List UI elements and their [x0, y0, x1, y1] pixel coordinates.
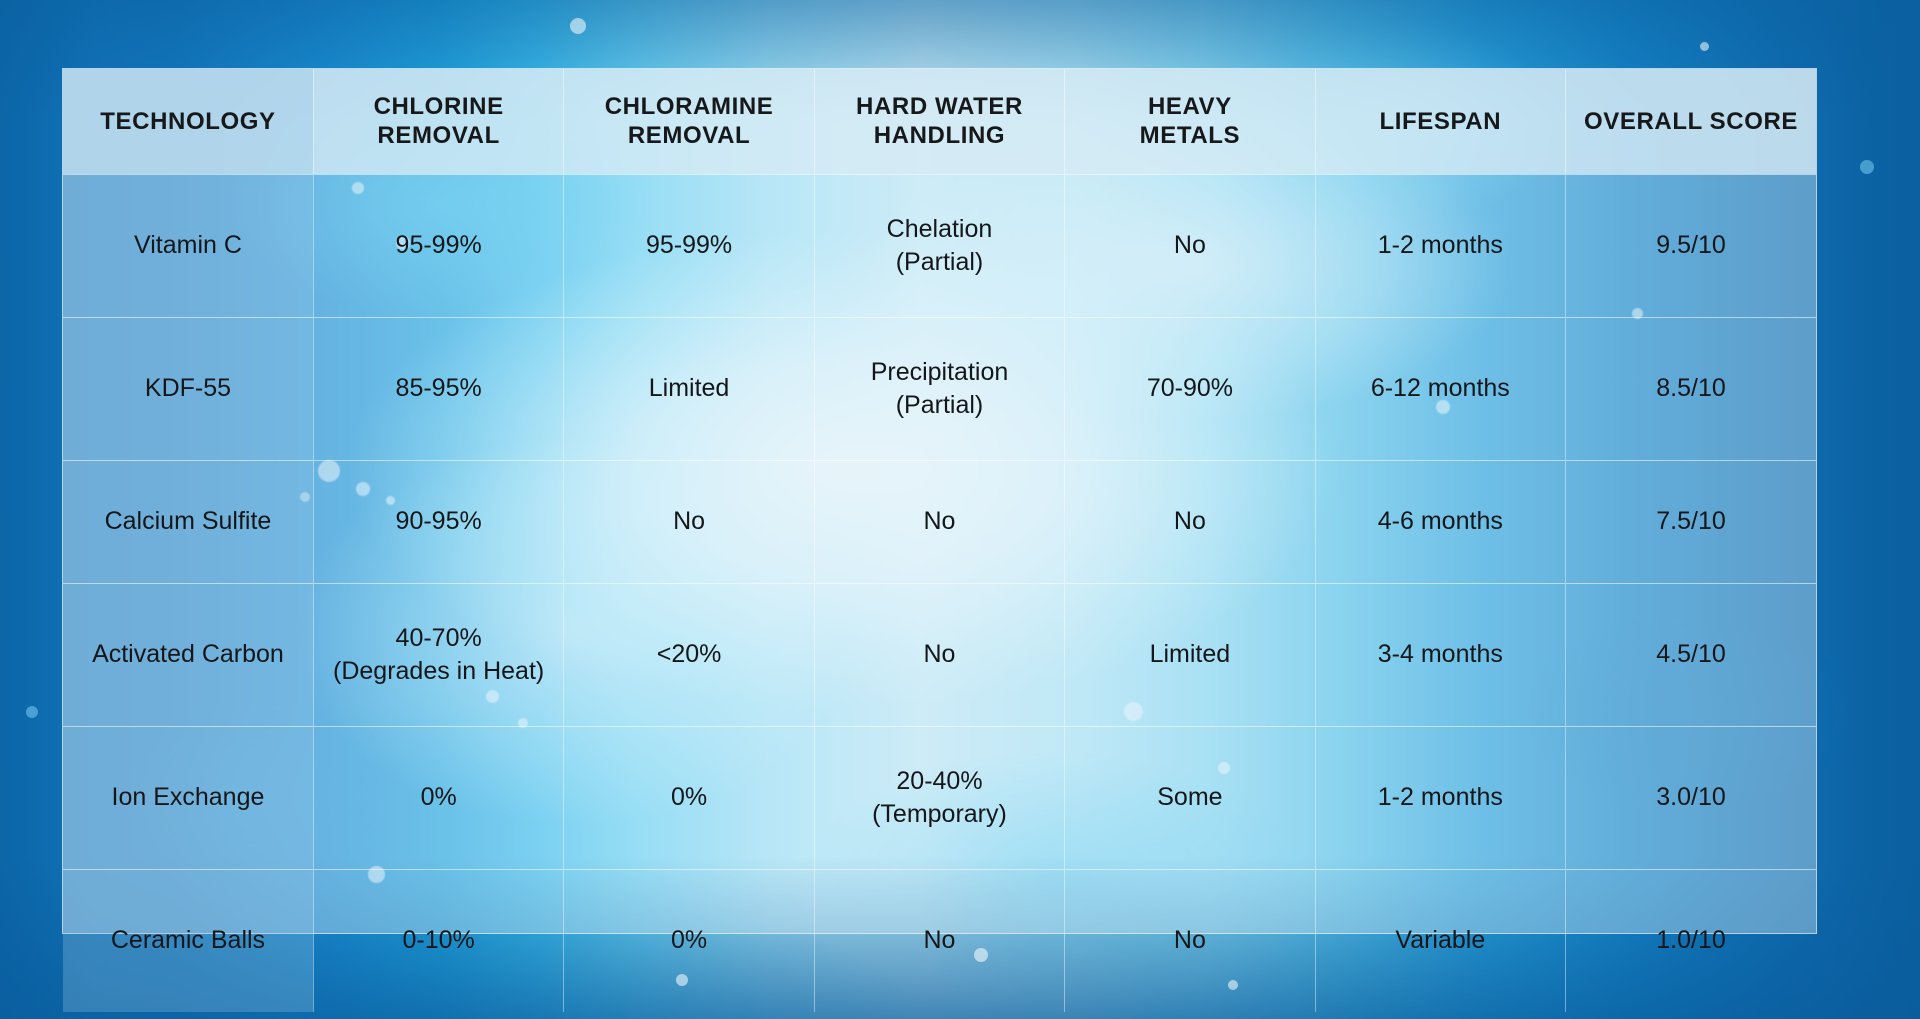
cell-technology: Calcium Sulfite: [63, 460, 313, 583]
cell-hard-water-handling: Chelation (Partial): [814, 174, 1064, 317]
cell-technology: Ceramic Balls: [63, 869, 313, 1012]
technology-comparison-table: TECHNOLOGY CHLORINE REMOVAL CHLORAMINE R…: [63, 69, 1816, 1012]
table-row: Ion Exchange 0% 0% 20-40% (Temporary) So…: [63, 726, 1816, 869]
header-line: CHLORAMINE: [605, 93, 774, 120]
column-header-overall-score: OVERALL SCORE: [1566, 69, 1816, 174]
cell-hard-water-handling: 20-40% (Temporary): [814, 726, 1064, 869]
cell-overall-score: 3.0/10: [1566, 726, 1816, 869]
header-row: TECHNOLOGY CHLORINE REMOVAL CHLORAMINE R…: [63, 69, 1816, 174]
header-line: REMOVAL: [377, 122, 499, 149]
table-row: Ceramic Balls 0-10% 0% No No Variable 1.…: [63, 869, 1816, 1012]
cell-heavy-metals: Limited: [1065, 583, 1315, 726]
table-row: Vitamin C 95-99% 95-99% Chelation (Parti…: [63, 174, 1816, 317]
header-line: METALS: [1140, 122, 1240, 149]
cell-chlorine-removal: 90-95%: [313, 460, 563, 583]
cell-chlorine-removal: 0%: [313, 726, 563, 869]
cell-overall-score: 4.5/10: [1566, 583, 1816, 726]
cell-hard-water-handling: No: [814, 869, 1064, 1012]
header-line: CHLORINE: [374, 93, 504, 120]
header-line: TECHNOLOGY: [100, 108, 275, 135]
table-row: Activated Carbon 40-70% (Degrades in Hea…: [63, 583, 1816, 726]
cell-main-text: Precipitation: [825, 356, 1054, 389]
column-header-chlorine-removal: CHLORINE REMOVAL: [313, 69, 563, 174]
cell-heavy-metals: 70-90%: [1065, 317, 1315, 460]
column-header-heavy-metals: HEAVY METALS: [1065, 69, 1315, 174]
cell-chloramine-removal: 0%: [564, 869, 814, 1012]
cell-heavy-metals: No: [1065, 460, 1315, 583]
cell-technology: KDF-55: [63, 317, 313, 460]
screenshot-stage: TECHNOLOGY CHLORINE REMOVAL CHLORAMINE R…: [0, 0, 1920, 1019]
cell-chloramine-removal: 95-99%: [564, 174, 814, 317]
cell-sub-text: (Partial): [825, 389, 1054, 422]
header-line: REMOVAL: [628, 122, 750, 149]
cell-main-text: Chelation: [825, 213, 1054, 246]
cell-heavy-metals: Some: [1065, 726, 1315, 869]
cell-chloramine-removal: <20%: [564, 583, 814, 726]
cell-chloramine-removal: 0%: [564, 726, 814, 869]
cell-sub-text: (Partial): [825, 246, 1054, 279]
cell-hard-water-handling: No: [814, 460, 1064, 583]
column-header-technology: TECHNOLOGY: [63, 69, 313, 174]
cell-chlorine-removal: 85-95%: [313, 317, 563, 460]
cell-technology: Activated Carbon: [63, 583, 313, 726]
cell-lifespan: 1-2 months: [1315, 174, 1565, 317]
cell-heavy-metals: No: [1065, 174, 1315, 317]
table-body: Vitamin C 95-99% 95-99% Chelation (Parti…: [63, 174, 1816, 1012]
cell-technology: Ion Exchange: [63, 726, 313, 869]
table-header: TECHNOLOGY CHLORINE REMOVAL CHLORAMINE R…: [63, 69, 1816, 174]
cell-lifespan: 3-4 months: [1315, 583, 1565, 726]
table-row: KDF-55 85-95% Limited Precipitation (Par…: [63, 317, 1816, 460]
column-header-chloramine-removal: CHLORAMINE REMOVAL: [564, 69, 814, 174]
cell-chlorine-removal: 40-70% (Degrades in Heat): [313, 583, 563, 726]
cell-overall-score: 8.5/10: [1566, 317, 1816, 460]
column-header-lifespan: LIFESPAN: [1315, 69, 1565, 174]
cell-chlorine-removal: 0-10%: [313, 869, 563, 1012]
cell-lifespan: 1-2 months: [1315, 726, 1565, 869]
cell-overall-score: 9.5/10: [1566, 174, 1816, 317]
header-line: HEAVY: [1148, 93, 1232, 120]
cell-hard-water-handling: Precipitation (Partial): [814, 317, 1064, 460]
cell-chloramine-removal: Limited: [564, 317, 814, 460]
header-line: HANDLING: [874, 122, 1005, 149]
cell-lifespan: 6-12 months: [1315, 317, 1565, 460]
cell-chloramine-removal: No: [564, 460, 814, 583]
cell-hard-water-handling: No: [814, 583, 1064, 726]
cell-chlorine-removal: 95-99%: [313, 174, 563, 317]
cell-sub-text: (Degrades in Heat): [324, 655, 553, 688]
header-line: LIFESPAN: [1379, 108, 1501, 135]
cell-lifespan: 4-6 months: [1315, 460, 1565, 583]
header-line: OVERALL SCORE: [1584, 108, 1798, 135]
column-header-hard-water-handling: HARD WATER HANDLING: [814, 69, 1064, 174]
cell-overall-score: 1.0/10: [1566, 869, 1816, 1012]
comparison-table-container: TECHNOLOGY CHLORINE REMOVAL CHLORAMINE R…: [62, 68, 1817, 934]
cell-main-text: 20-40%: [825, 765, 1054, 798]
cell-main-text: 40-70%: [324, 622, 553, 655]
cell-heavy-metals: No: [1065, 869, 1315, 1012]
cell-overall-score: 7.5/10: [1566, 460, 1816, 583]
table-row: Calcium Sulfite 90-95% No No No 4-6 mont…: [63, 460, 1816, 583]
cell-technology: Vitamin C: [63, 174, 313, 317]
header-line: HARD WATER: [856, 93, 1023, 120]
cell-sub-text: (Temporary): [825, 798, 1054, 831]
cell-lifespan: Variable: [1315, 869, 1565, 1012]
